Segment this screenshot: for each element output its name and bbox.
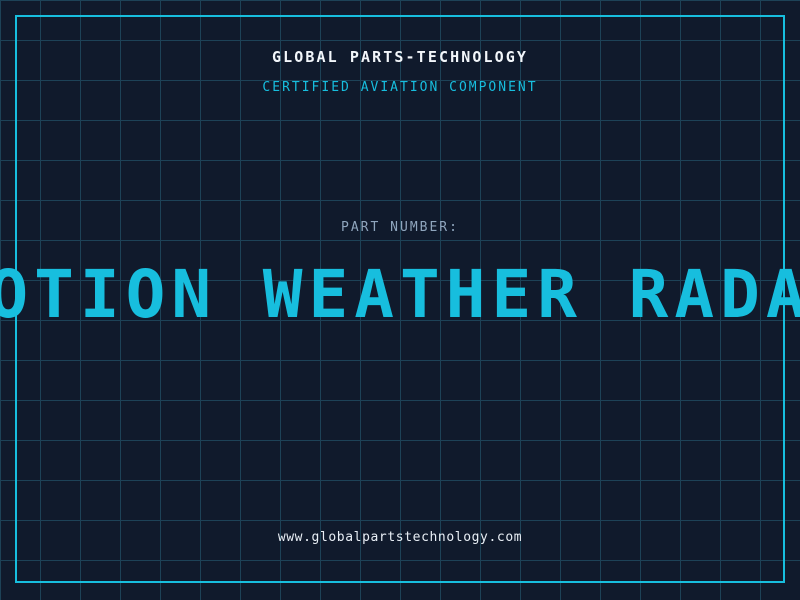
brand-title: GLOBAL PARTS-TECHNOLOGY <box>0 48 800 66</box>
brand-subtitle: CERTIFIED AVIATION COMPONENT <box>0 80 800 95</box>
aviation-part-card: GLOBAL PARTS-TECHNOLOGY CERTIFIED AVIATI… <box>0 0 800 600</box>
part-number-viewport: MOTION WEATHER RADAR <box>0 262 800 328</box>
part-number-value: MOTION WEATHER RADAR <box>0 262 800 328</box>
website-url: www.globalpartstechnology.com <box>0 530 800 545</box>
part-number-label: PART NUMBER: <box>0 220 800 235</box>
